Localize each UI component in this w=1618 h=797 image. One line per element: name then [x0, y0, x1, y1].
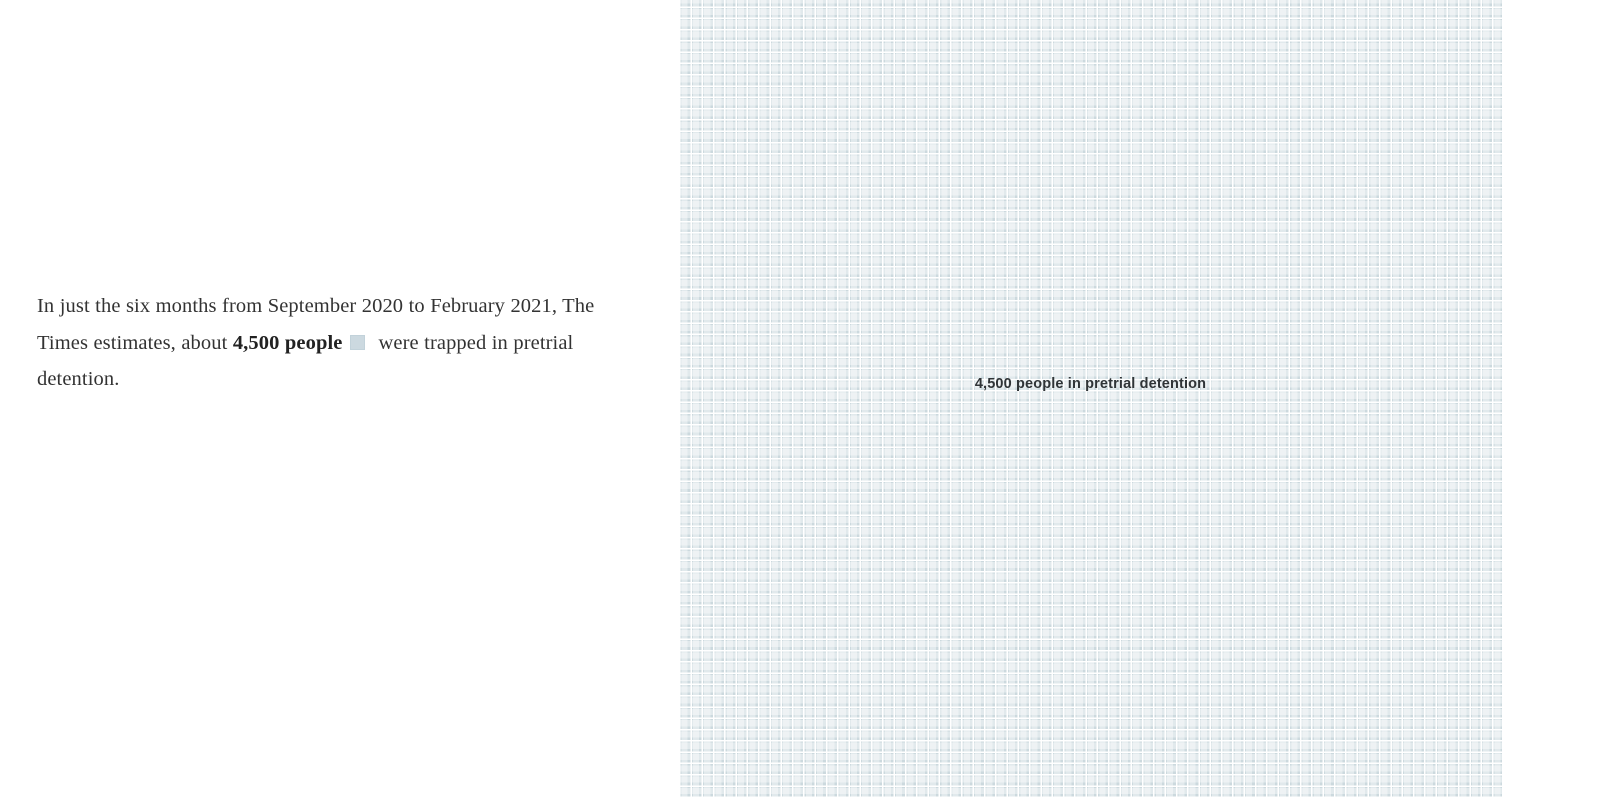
graphic-stage: In just the six months from September 20…: [0, 0, 1618, 797]
narrative-line-1: In just the six months from September 20…: [37, 295, 425, 317]
unit-grid-cells: [679, 0, 1502, 797]
narrative-column: In just the six months from September 20…: [37, 288, 637, 398]
unit-grid-panel: 4,500 people in pretrial detention: [679, 0, 1502, 797]
color-swatch-icon: [350, 335, 365, 350]
narrative-bold-phrase: 4,500 people: [233, 332, 343, 354]
narrative-paragraph: In just the six months from September 20…: [37, 288, 637, 398]
